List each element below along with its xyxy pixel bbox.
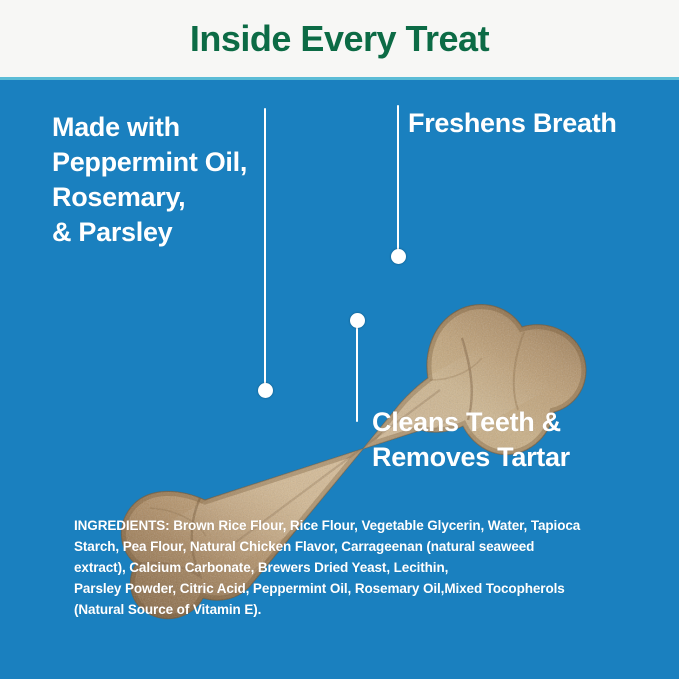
callout-line-1: Cleans Teeth &: [372, 405, 642, 440]
callout-leader-line-cleans-teeth: [356, 320, 358, 422]
ingredients-line-2: Starch, Pea Flour, Natural Chicken Flavo…: [74, 537, 614, 558]
callout-line-2: Peppermint Oil,: [52, 145, 307, 180]
callout-line-1: Made with: [52, 110, 307, 145]
ingredients-block: INGREDIENTS: Brown Rice Flour, Rice Flou…: [74, 516, 614, 621]
callout-freshens-breath-label: Freshens Breath: [408, 106, 653, 141]
callout-line-4: & Parsley: [52, 215, 307, 250]
callout-dot-cleans-teeth: [350, 313, 365, 328]
callout-cleans-teeth-label: Cleans Teeth & Removes Tartar: [372, 405, 642, 475]
callout-dot-made-with: [258, 383, 273, 398]
callout-line-1: Freshens Breath: [408, 106, 653, 141]
callout-leader-line-made-with: [264, 108, 266, 385]
callout-leader-line-freshens-breath: [397, 105, 399, 251]
ingredients-line-1: INGREDIENTS: Brown Rice Flour, Rice Flou…: [74, 516, 614, 537]
page-title: Inside Every Treat: [0, 18, 679, 60]
callout-line-2: Removes Tartar: [372, 440, 642, 475]
ingredients-line-5: (Natural Source of Vitamin E).: [74, 600, 614, 621]
callout-line-3: Rosemary,: [52, 180, 307, 215]
callout-dot-freshens-breath: [391, 249, 406, 264]
infographic-root: Inside Every Treat: [0, 0, 679, 679]
ingredients-line-4: Parsley Powder, Citric Acid, Peppermint …: [74, 579, 614, 600]
callout-made-with-label: Made with Peppermint Oil, Rosemary, & Pa…: [52, 110, 307, 250]
ingredients-line-3: extract), Calcium Carbonate, Brewers Dri…: [74, 558, 614, 579]
blue-content-panel: Made with Peppermint Oil, Rosemary, & Pa…: [0, 80, 679, 679]
